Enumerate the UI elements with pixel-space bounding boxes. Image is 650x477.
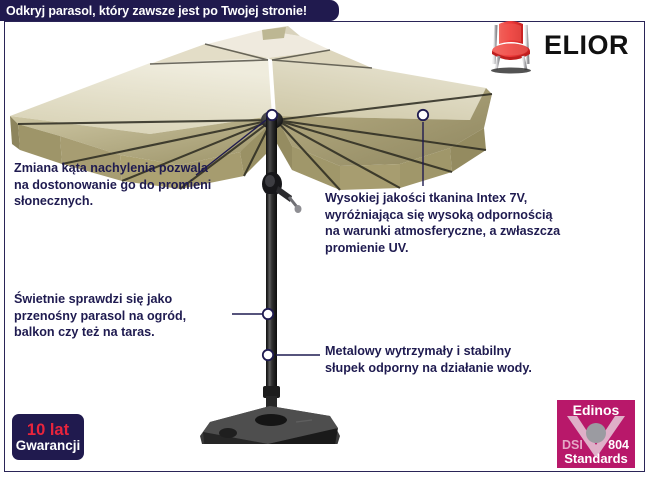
edinos-standards-label: Standards bbox=[557, 452, 635, 465]
callout-line: słupek odporny na działanie wody. bbox=[325, 360, 532, 377]
edinos-brand: Edinos bbox=[557, 403, 635, 417]
header-title: Odkryj parasol, który zawsze jest po Two… bbox=[0, 4, 307, 18]
edinos-code-number: 804 bbox=[608, 439, 629, 452]
warranty-years: 10 lat bbox=[27, 422, 69, 439]
warranty-badge: 10 lat Gwarancji bbox=[12, 414, 84, 460]
edinos-standards-badge: Edinos DSI 804 Standards bbox=[557, 400, 635, 468]
callout-text-pole: Metalowy wytrzymały i stabilny słupek od… bbox=[325, 343, 532, 376]
callout-line: na warunki atmosferyczne, a zwłaszcza bbox=[325, 223, 560, 240]
brand-logo[interactable]: ELIOR bbox=[482, 14, 642, 76]
infographic-canvas: Zmiana kąta nachylenia pozwala na doston… bbox=[0, 0, 650, 477]
callout-line: słonecznych. bbox=[14, 193, 211, 210]
callout-line: na dostonowanie go do promieni bbox=[14, 177, 211, 194]
callout-line: Zmiana kąta nachylenia pozwala bbox=[14, 160, 211, 177]
brand-name: ELIOR bbox=[544, 32, 629, 59]
callout-line: Metalowy wytrzymały i stabilny bbox=[325, 343, 532, 360]
callout-line: promienie UV. bbox=[325, 240, 560, 257]
callout-line: wyróżniająca się wysoką odpornością bbox=[325, 207, 560, 224]
red-chair-icon bbox=[482, 16, 540, 74]
callout-text-fabric: Wysokiej jakości tkanina Intex 7V, wyróż… bbox=[325, 190, 560, 257]
callout-line: Świetnie sprawdzi się jako bbox=[14, 291, 186, 308]
callout-text-tilt: Zmiana kąta nachylenia pozwala na doston… bbox=[14, 160, 211, 210]
warranty-word: Gwarancji bbox=[16, 439, 81, 453]
edinos-code-prefix: DSI bbox=[562, 439, 583, 452]
callout-text-portable: Świetnie sprawdzi się jako przenośny par… bbox=[14, 291, 186, 341]
callout-line: Wysokiej jakości tkanina Intex 7V, bbox=[325, 190, 560, 207]
callout-line: przenośny parasol na ogród, bbox=[14, 308, 186, 325]
callout-line: balkon czy też na taras. bbox=[14, 324, 186, 341]
header-banner: Odkryj parasol, który zawsze jest po Two… bbox=[0, 0, 339, 21]
